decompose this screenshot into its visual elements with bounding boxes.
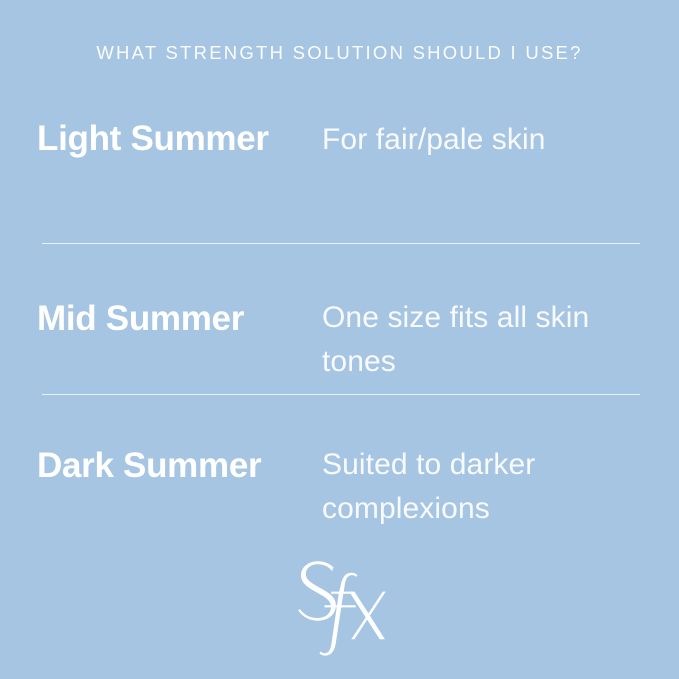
sfx-monogram-icon xyxy=(286,558,394,656)
page-title: WHAT STRENGTH SOLUTION SHOULD I USE? xyxy=(0,42,679,64)
option-description-light-summer: For fair/pale skin xyxy=(322,118,612,162)
option-description-mid-summer: One size fits all skin tones xyxy=(322,296,612,383)
infographic-card: WHAT STRENGTH SOLUTION SHOULD I USE? Lig… xyxy=(0,0,679,679)
option-description-dark-summer: Suited to darker complexions xyxy=(322,443,612,530)
list-item: Dark Summer Suited to darker complexions xyxy=(0,395,679,525)
brand-logo xyxy=(0,558,679,656)
option-title-mid-summer: Mid Summer xyxy=(37,296,322,339)
option-title-dark-summer: Dark Summer xyxy=(37,443,322,486)
list-item: Mid Summer One size fits all skin tones xyxy=(0,244,679,394)
list-item: Light Summer For fair/pale skin xyxy=(0,118,679,243)
strength-options-list: Light Summer For fair/pale skin Mid Summ… xyxy=(0,118,679,525)
option-title-light-summer: Light Summer xyxy=(37,118,322,159)
